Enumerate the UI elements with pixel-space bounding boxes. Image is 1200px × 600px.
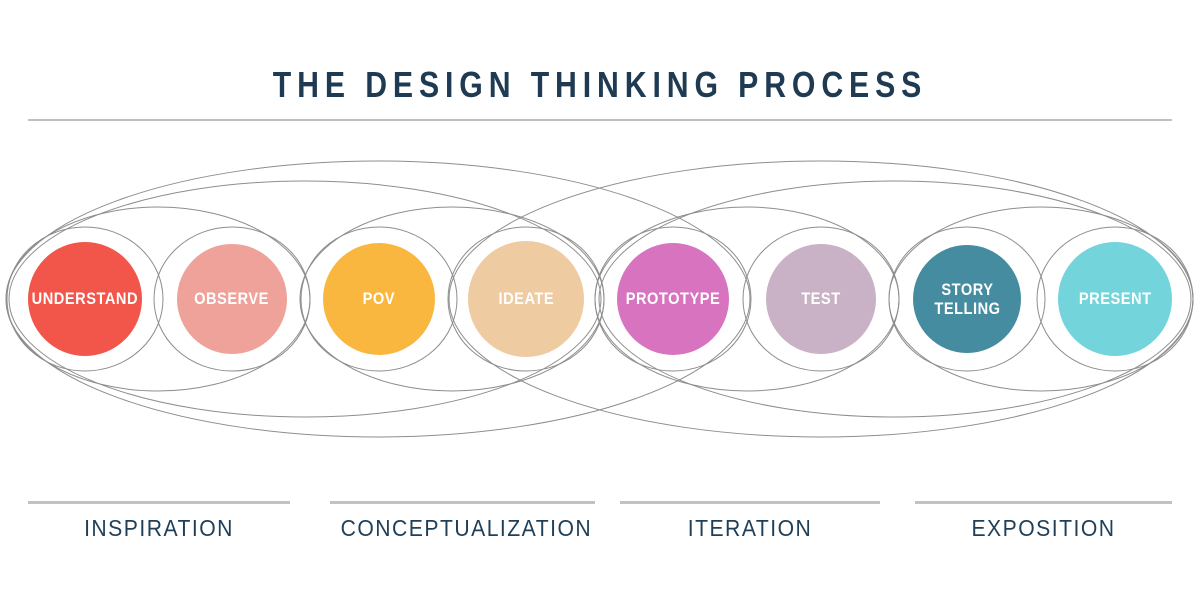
phase-rule-iteration [620, 501, 880, 504]
stage-label-present: PRESENT [1079, 289, 1152, 308]
stage-label-ideate: IDEATE [498, 289, 554, 308]
stage-label-understand: UNDERSTAND [32, 289, 138, 308]
stage-circle-pov[interactable]: POV [323, 243, 435, 355]
phase-label-iteration: ITERATION [630, 515, 869, 542]
stage-circle-ideate[interactable]: IDEATE [468, 241, 584, 357]
stage-label-pov: POV [363, 289, 395, 308]
stage-label-test: TEST [801, 289, 840, 308]
phase-rule-inspiration [28, 501, 290, 504]
phase-rule-conceptualization [330, 501, 595, 504]
phase-rule-exposition [915, 501, 1172, 504]
stage-label-storytelling: STORY TELLING [934, 280, 1000, 318]
stage-circle-storytelling[interactable]: STORY TELLING [913, 245, 1021, 353]
stage-circle-observe[interactable]: OBSERVE [177, 244, 287, 354]
stage-label-prototype: PROTOTYPE [626, 289, 721, 308]
stage-circle-test[interactable]: TEST [766, 244, 876, 354]
stage-circle-present[interactable]: PRESENT [1058, 242, 1172, 356]
phase-label-exposition: EXPOSITION [925, 515, 1161, 542]
stage-circle-prototype[interactable]: PROTOTYPE [617, 243, 729, 355]
stage-circle-understand[interactable]: UNDERSTAND [28, 242, 142, 356]
phase-label-inspiration: INSPIRATION [38, 515, 279, 542]
design-thinking-process-infographic: THE DESIGN THINKING PROCESS UNDERSTANDOB… [0, 0, 1200, 600]
phase-label-conceptualization: CONCEPTUALIZATION [341, 515, 585, 542]
stage-label-observe: OBSERVE [195, 289, 270, 308]
